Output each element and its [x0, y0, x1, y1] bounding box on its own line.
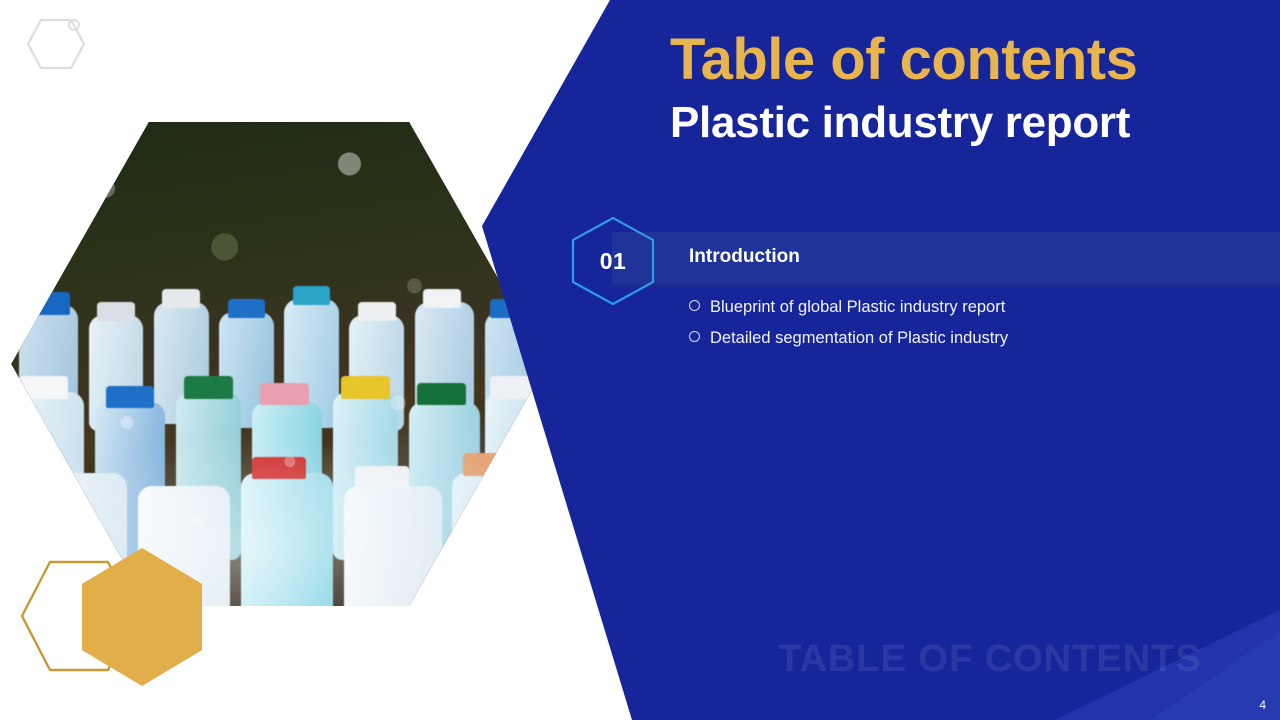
toc-bullet-text: Blueprint of global Plastic industry rep… — [710, 298, 1005, 316]
toc-number-badge[interactable]: 01 — [569, 215, 657, 307]
list-item: Blueprint of global Plastic industry rep… — [689, 292, 1008, 323]
bullet-circle-icon — [689, 300, 700, 311]
toc-bullet-text: Detailed segmentation of Plastic industr… — [710, 329, 1008, 347]
toc-item-heading[interactable]: Introduction — [689, 246, 800, 268]
toc-bullet-list: Blueprint of global Plastic industry rep… — [689, 292, 1008, 354]
plastic-bottles-photo — [8, 120, 550, 608]
bullet-circle-icon — [689, 331, 700, 342]
slide-table-of-contents: Table of contents Plastic industry repor… — [0, 0, 1280, 720]
list-item: Detailed segmentation of Plastic industr… — [689, 323, 1008, 354]
decorative-hexagon-top-left — [24, 14, 100, 79]
page-title: Table of contents — [670, 26, 1137, 93]
hexagon-outline-icon — [24, 14, 100, 74]
page-subtitle: Plastic industry report — [670, 98, 1130, 148]
page-number: 4 — [1259, 698, 1266, 712]
toc-item-number: 01 — [569, 215, 657, 307]
watermark-text: TABLE OF CONTENTS — [778, 638, 1202, 681]
